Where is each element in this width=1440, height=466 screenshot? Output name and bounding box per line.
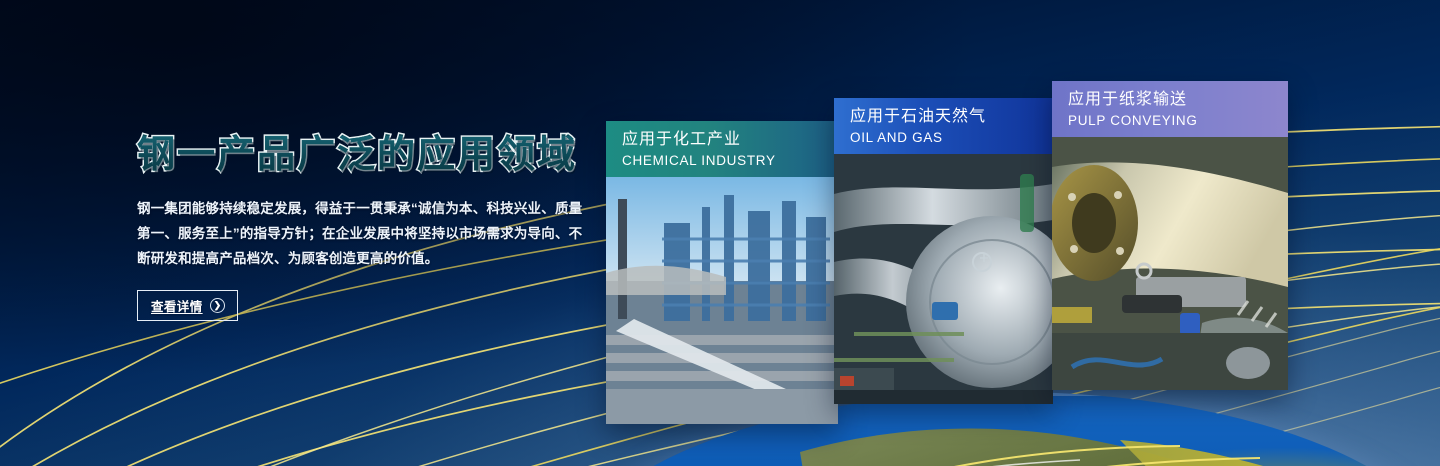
card-title-cn: 应用于石油天然气 bbox=[850, 106, 1053, 128]
card-title-en: PULP CONVEYING bbox=[1068, 111, 1288, 130]
card-title-en: CHEMICAL INDUSTRY bbox=[622, 151, 838, 170]
card-title-cn: 应用于纸浆输送 bbox=[1068, 89, 1288, 111]
banner-copy-block: 钢一产品广泛的应用领域 钢一产品广泛的应用领域 钢一集团能够持续稳定发展，得益于… bbox=[137, 136, 607, 321]
card-caption-pulp: 应用于纸浆输送 PULP CONVEYING bbox=[1052, 81, 1288, 137]
application-card-pulp[interactable]: 应用于纸浆输送 PULP CONVEYING bbox=[1052, 81, 1288, 390]
card-caption-oilgas: 应用于石油天然气 OIL AND GAS bbox=[834, 98, 1053, 154]
banner-stage: 钢一产品广泛的应用领域 钢一产品广泛的应用领域 钢一集团能够持续稳定发展，得益于… bbox=[0, 0, 1440, 466]
page-title-fill: 钢一产品广泛的应用领域 bbox=[137, 136, 577, 176]
card-title-en: OIL AND GAS bbox=[850, 128, 1053, 147]
application-card-chemical[interactable]: 应用于化工产业 CHEMICAL INDUSTRY bbox=[606, 121, 838, 424]
page-title: 钢一产品广泛的应用领域 钢一产品广泛的应用领域 bbox=[137, 136, 607, 180]
chemical-plant-photo bbox=[606, 177, 838, 424]
chevron-right-circle-icon: ❯ bbox=[210, 298, 225, 313]
oil-and-gas-piping-photo bbox=[834, 154, 1053, 404]
banner-description: 钢一集团能够持续稳定发展，得益于一贯秉承“诚信为本、科技兴业、质量第一、服务至上… bbox=[137, 196, 589, 271]
paper-mill-roller-photo bbox=[1052, 137, 1288, 390]
card-caption-chemical: 应用于化工产业 CHEMICAL INDUSTRY bbox=[606, 121, 838, 177]
card-title-cn: 应用于化工产业 bbox=[622, 129, 838, 151]
view-details-label: 查看详情 bbox=[151, 296, 203, 315]
application-card-oilgas[interactable]: 应用于石油天然气 OIL AND GAS bbox=[834, 98, 1053, 404]
view-details-button[interactable]: 查看详情 ❯ bbox=[137, 290, 238, 321]
